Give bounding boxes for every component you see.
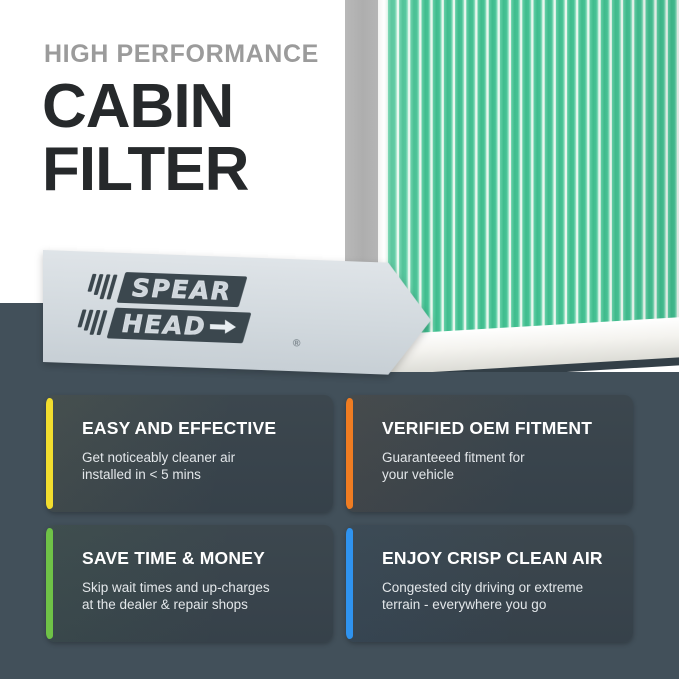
card-body-1-line-1: Get noticeably cleaner air: [82, 449, 323, 466]
logo-row-top: SPEAR: [89, 271, 243, 308]
registered-trademark-mark: ®: [293, 338, 300, 349]
speed-stripes-icon-2: [75, 309, 107, 335]
card-body-4-line-1: Congested city driving or extreme: [382, 579, 623, 596]
feature-card-save-time-and-money[interactable]: SAVE TIME & MONEY Skip wait times and up…: [46, 525, 333, 642]
logo-bar-bottom: HEAD: [107, 308, 252, 344]
card-body-3: Skip wait times and up-charges at the de…: [82, 579, 323, 614]
accent-bar-2: [346, 398, 353, 509]
card-body-4: Congested city driving or extreme terrai…: [382, 579, 623, 614]
title-line-2: FILTER: [42, 141, 248, 200]
card-title-2: VERIFIED OEM FITMENT: [382, 418, 623, 439]
logo-bar-top: SPEAR: [117, 272, 247, 307]
card-body-2-line-2: your vehicle: [382, 466, 623, 483]
card-body-1: Get noticeably cleaner air installed in …: [82, 449, 323, 484]
card-title-1: EASY AND EFFECTIVE: [82, 418, 323, 439]
feature-card-easy-and-effective[interactable]: EASY AND EFFECTIVE Get noticeably cleane…: [46, 395, 333, 512]
card-body-4-line-2: terrain - everywhere you go: [382, 596, 623, 613]
accent-bar-1: [46, 398, 53, 509]
speed-stripes-icon: [85, 274, 117, 300]
accent-bar-3: [46, 528, 53, 639]
card-body-2-line-1: Guaranteeed fitment for: [382, 449, 623, 466]
right-arrow-icon: [210, 319, 236, 335]
brand-word-bottom: HEAD: [122, 311, 206, 339]
accent-bar-4: [346, 528, 353, 639]
brand-word-top: SPEAR: [132, 275, 232, 304]
feature-card-enjoy-crisp-clean-air[interactable]: ENJOY CRISP CLEAN AIR Congested city dri…: [346, 525, 633, 642]
card-body-3-line-1: Skip wait times and up-charges: [82, 579, 323, 596]
feature-card-verified-oem-fitment[interactable]: VERIFIED OEM FITMENT Guaranteeed fitment…: [346, 395, 633, 512]
card-title-3: SAVE TIME & MONEY: [82, 548, 323, 569]
logo-row-bottom: HEAD: [79, 306, 247, 343]
product-infographic: HIGH PERFORMANCE CABIN FILTER SPEAR: [0, 0, 679, 679]
page-title: CABIN FILTER: [42, 78, 248, 200]
card-body-1-line-2: installed in < 5 mins: [82, 466, 323, 483]
title-line-1: CABIN: [42, 72, 233, 141]
feature-card-grid: EASY AND EFFECTIVE Get noticeably cleane…: [46, 395, 633, 647]
card-body-3-line-2: at the dealer & repair shops: [82, 596, 323, 613]
kicker-text: HIGH PERFORMANCE: [44, 40, 319, 69]
card-body-2: Guaranteeed fitment for your vehicle: [382, 449, 623, 484]
spearhead-logo: SPEAR HEAD ®: [79, 268, 319, 355]
card-title-4: ENJOY CRISP CLEAN AIR: [382, 548, 623, 569]
brand-banner: SPEAR HEAD ®: [43, 250, 431, 376]
